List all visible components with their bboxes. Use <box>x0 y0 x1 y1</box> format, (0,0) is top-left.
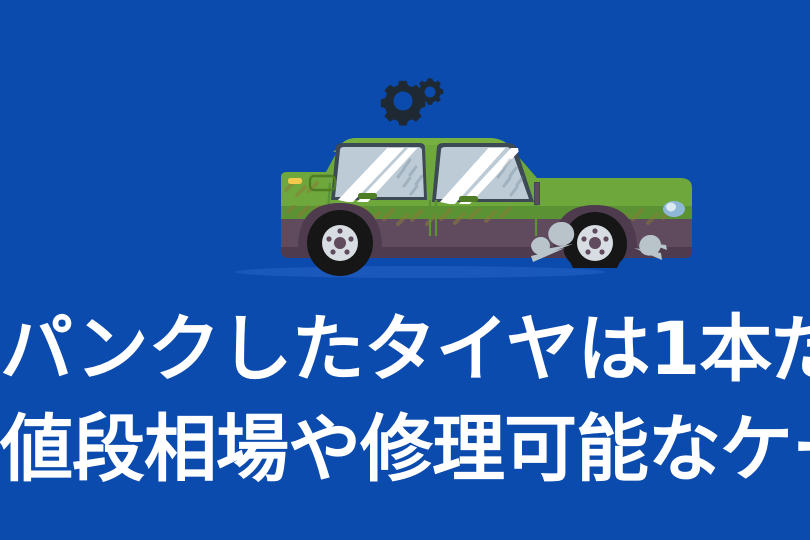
door-handle-front <box>459 196 478 202</box>
headline-block: パンクしたタイヤは1本だけ交換できる？ 値段相場や修理可能なケースも解説 <box>0 292 810 502</box>
rear-wheel <box>307 210 373 276</box>
headline-line-1: パンクしたタイヤは1本だけ交換できる？ <box>0 300 810 400</box>
large-gear <box>381 81 426 126</box>
headline-line-2-clip: 値段相場や修理可能なケースも解説 <box>0 400 810 500</box>
banner-root: パンクしたタイヤは1本だけ交換できる？ 値段相場や修理可能なケースも解説 <box>0 0 810 540</box>
gears-group <box>381 78 444 125</box>
window-rear <box>331 143 427 204</box>
headline-line-1-clip: パンクしたタイヤは1本だけ交換できる？ <box>0 292 810 400</box>
car-illustration <box>0 0 810 300</box>
ground-shadow <box>235 266 605 278</box>
window-front <box>432 143 534 206</box>
door-handle-rear <box>358 193 377 199</box>
small-gear <box>417 78 443 104</box>
headline-line-2: 値段相場や修理可能なケースも解説 <box>0 400 810 500</box>
rear-marker-light <box>288 178 302 184</box>
car-body-group <box>281 138 692 276</box>
